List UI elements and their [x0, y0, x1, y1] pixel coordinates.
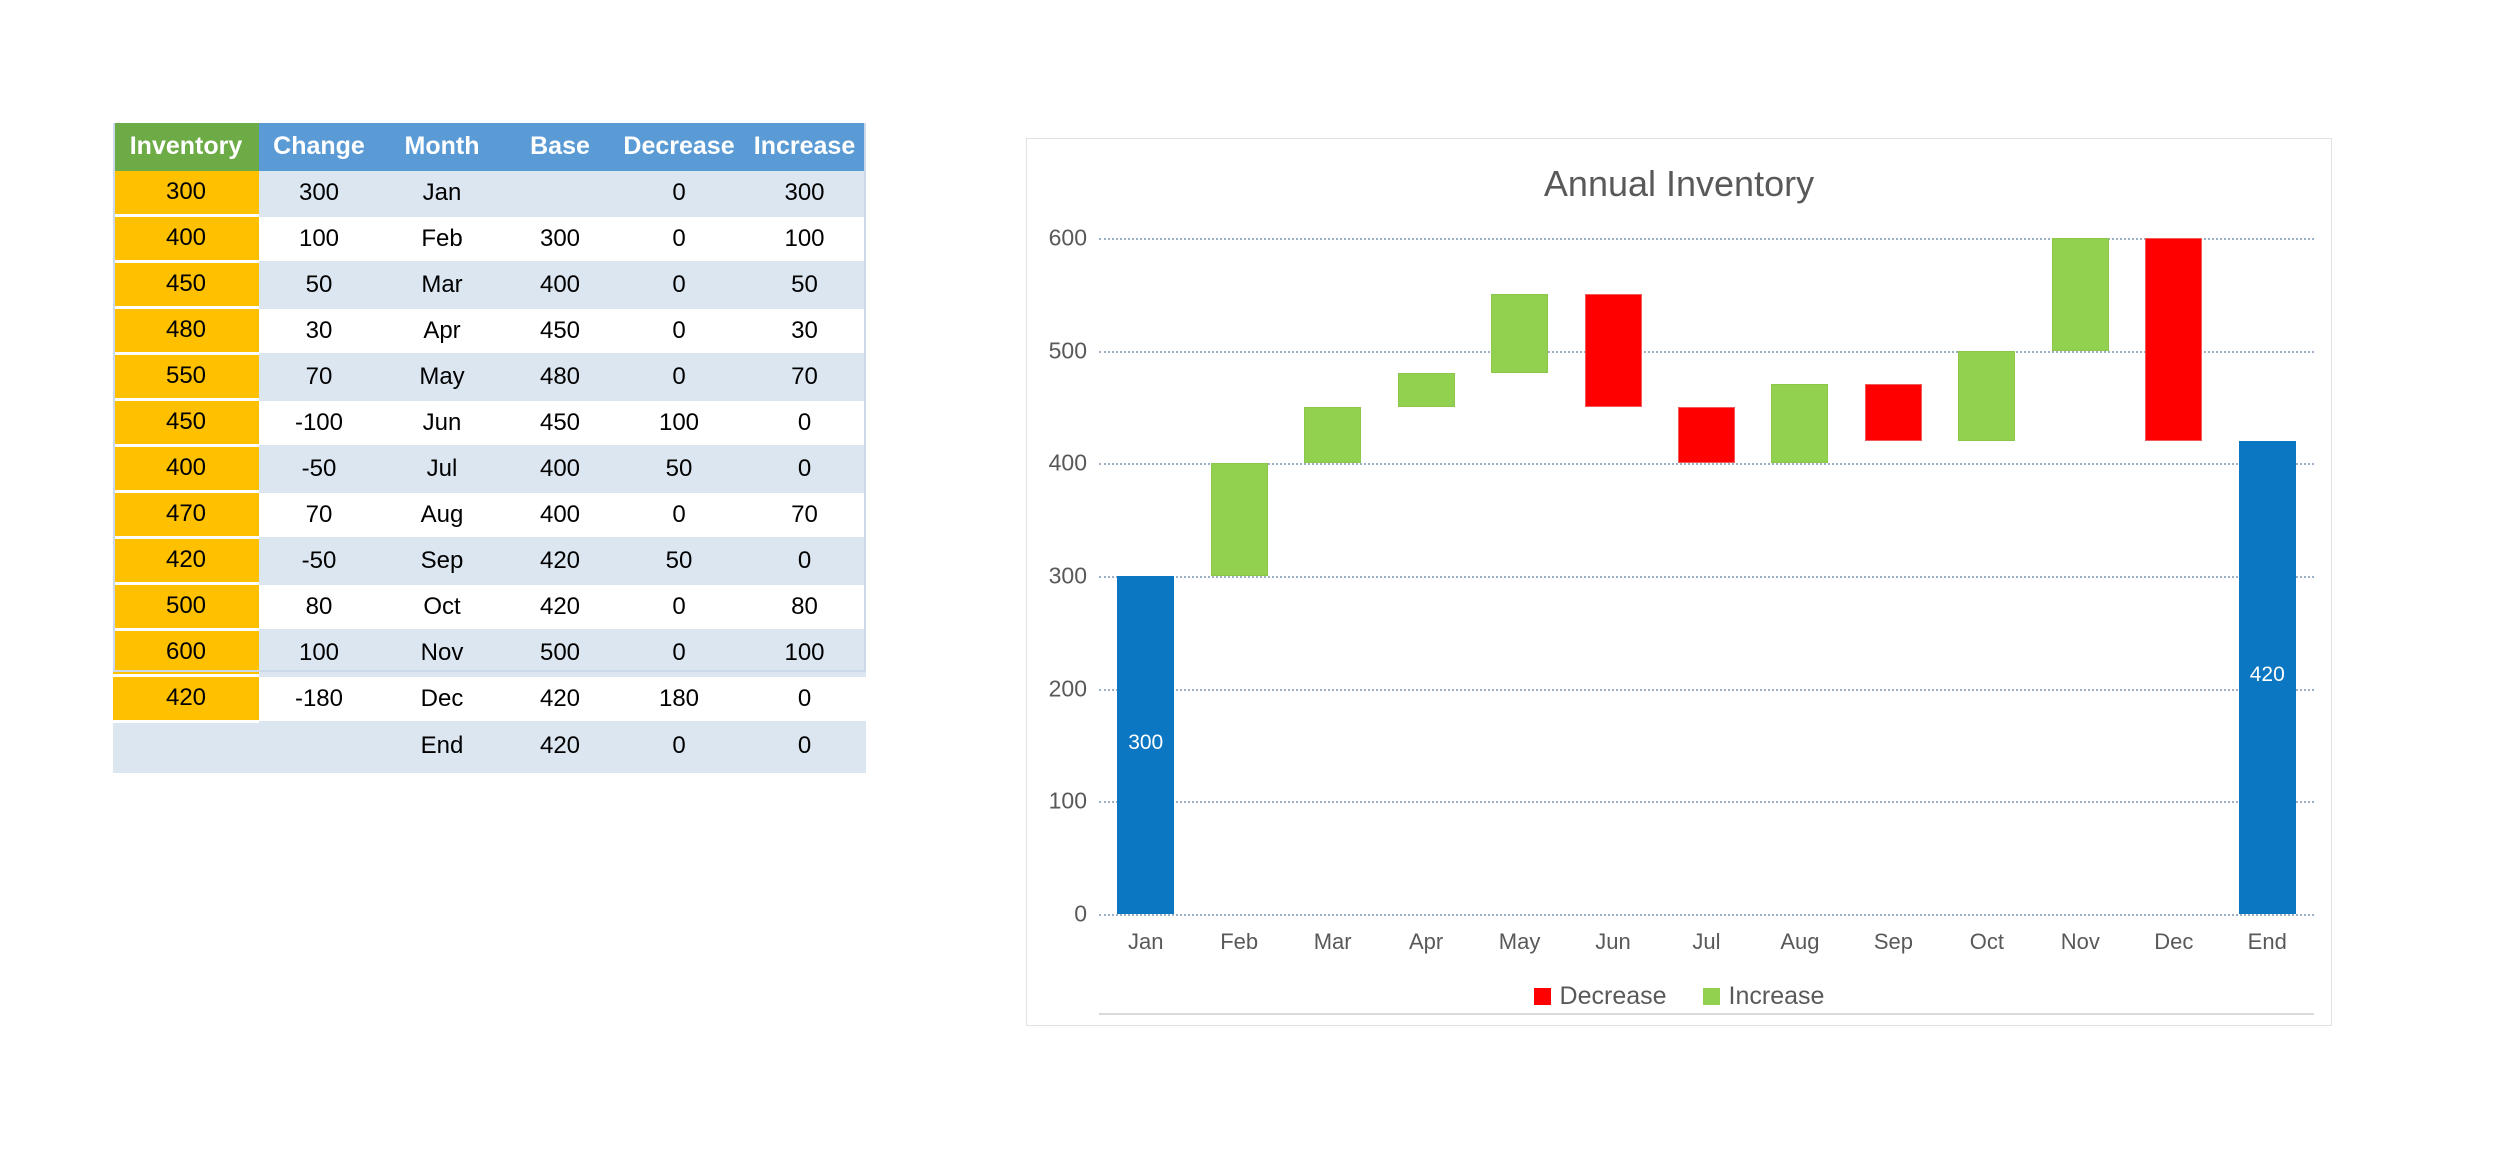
table-header-row: Inventory Change Month Base Decrease Inc… — [113, 123, 866, 171]
cell-inventory[interactable]: 450 — [113, 401, 259, 447]
inventory-data-table[interactable]: Inventory Change Month Base Decrease Inc… — [113, 123, 866, 773]
bar-jan[interactable]: 300 — [1117, 576, 1174, 914]
column-header-inventory[interactable]: Inventory — [113, 123, 259, 171]
cell-decrease[interactable]: 0 — [615, 723, 743, 773]
table-row[interactable]: End42000 — [113, 723, 866, 773]
cell-increase[interactable]: 300 — [743, 171, 866, 217]
cell-month[interactable]: Aug — [379, 493, 505, 539]
bar-jun[interactable] — [1585, 294, 1642, 407]
table-row[interactable]: 420-50Sep420500 — [113, 539, 866, 585]
y-axis: 0100200300400500600 — [1027, 238, 1087, 914]
column-header-base[interactable]: Base — [505, 123, 615, 171]
cell-month[interactable]: Dec — [379, 677, 505, 723]
legend-label: Increase — [1729, 982, 1825, 1010]
cell-change[interactable]: 30 — [259, 309, 379, 355]
x-axis-tick-label: Apr — [1379, 929, 1472, 955]
bar-end[interactable]: 420 — [2239, 441, 2296, 914]
cell-inventory[interactable]: 600 — [113, 631, 259, 677]
cell-month[interactable]: Feb — [379, 217, 505, 263]
cell-decrease[interactable]: 100 — [615, 401, 743, 447]
cell-decrease[interactable]: 180 — [615, 677, 743, 723]
cell-decrease[interactable]: 0 — [615, 309, 743, 355]
cell-decrease[interactable]: 50 — [615, 447, 743, 493]
x-axis-tick-label: Aug — [1753, 929, 1846, 955]
cell-inventory[interactable]: 500 — [113, 585, 259, 631]
legend-swatch-icon — [1534, 988, 1551, 1005]
table-row[interactable]: 50080Oct420080 — [113, 585, 866, 631]
cell-base[interactable]: 450 — [505, 309, 615, 355]
x-axis-tick-label: Dec — [2127, 929, 2220, 955]
table-row[interactable]: 48030Apr450030 — [113, 309, 866, 355]
cell-base[interactable]: 400 — [505, 493, 615, 539]
table-row[interactable]: 47070Aug400070 — [113, 493, 866, 539]
cell-decrease[interactable]: 0 — [615, 217, 743, 263]
cell-base[interactable]: 400 — [505, 447, 615, 493]
gridline — [1099, 463, 2314, 465]
gridline — [1099, 351, 2314, 353]
table-row[interactable]: 450-100Jun4501000 — [113, 401, 866, 447]
x-axis-tick-label: Jul — [1660, 929, 1753, 955]
bar-feb[interactable] — [1211, 463, 1268, 576]
x-axis-tick-label: May — [1473, 929, 1566, 955]
cell-change[interactable]: -50 — [259, 447, 379, 493]
x-axis-tick-label: Sep — [1847, 929, 1940, 955]
chart-panel[interactable]: Annual Inventory 0100200300400500600 300… — [1026, 138, 2332, 1026]
cell-inventory[interactable]: 480 — [113, 309, 259, 355]
y-axis-tick-label: 200 — [1049, 675, 1087, 702]
y-axis-tick-label: 500 — [1049, 337, 1087, 364]
cell-increase[interactable]: 0 — [743, 677, 866, 723]
legend-item-increase[interactable]: Increase — [1703, 982, 1825, 1011]
cell-inventory[interactable]: 550 — [113, 355, 259, 401]
cell-inventory[interactable]: 420 — [113, 677, 259, 723]
cell-change[interactable]: -100 — [259, 401, 379, 447]
cell-change[interactable]: -180 — [259, 677, 379, 723]
cell-base[interactable]: 420 — [505, 539, 615, 585]
table-row[interactable]: 400-50Jul400500 — [113, 447, 866, 493]
bar-sep[interactable] — [1865, 384, 1922, 440]
table-row[interactable]: 300300Jan0300 — [113, 171, 866, 217]
column-header-increase[interactable]: Increase — [743, 123, 866, 171]
cell-base[interactable] — [505, 171, 615, 217]
y-axis-tick-label: 300 — [1049, 563, 1087, 590]
cell-increase[interactable]: 0 — [743, 447, 866, 493]
cell-decrease[interactable]: 0 — [615, 263, 743, 309]
cell-month[interactable]: Apr — [379, 309, 505, 355]
cell-change[interactable] — [259, 723, 379, 773]
cell-month[interactable]: Jul — [379, 447, 505, 493]
cell-decrease[interactable]: 0 — [615, 171, 743, 217]
gridline — [1099, 576, 2314, 578]
x-axis-tick-label: Mar — [1286, 929, 1379, 955]
cell-inventory[interactable]: 450 — [113, 263, 259, 309]
x-axis-tick-label: Nov — [2034, 929, 2127, 955]
cell-decrease[interactable]: 0 — [615, 585, 743, 631]
cell-inventory[interactable]: 400 — [113, 217, 259, 263]
cell-decrease[interactable]: 50 — [615, 539, 743, 585]
gridline — [1099, 914, 2314, 916]
y-axis-tick-label: 100 — [1049, 788, 1087, 815]
column-header-month[interactable]: Month — [379, 123, 505, 171]
cell-base[interactable]: 420 — [505, 723, 615, 773]
cell-base[interactable]: 420 — [505, 677, 615, 723]
cell-increase[interactable]: 70 — [743, 355, 866, 401]
cell-base[interactable]: 450 — [505, 401, 615, 447]
cell-month[interactable]: Jan — [379, 171, 505, 217]
cell-decrease[interactable]: 0 — [615, 355, 743, 401]
table-row[interactable]: 400100Feb3000100 — [113, 217, 866, 263]
chart-title: Annual Inventory — [1027, 163, 2331, 205]
cell-inventory[interactable] — [113, 723, 259, 773]
cell-inventory[interactable]: 300 — [113, 171, 259, 217]
bar-aug[interactable] — [1771, 384, 1828, 463]
cell-month[interactable]: Jun — [379, 401, 505, 447]
x-axis-tick-label: Jan — [1099, 929, 1192, 955]
cell-increase[interactable]: 0 — [743, 539, 866, 585]
chart-legend[interactable]: DecreaseIncrease — [1027, 982, 2331, 1011]
cell-month[interactable]: Sep — [379, 539, 505, 585]
cell-inventory[interactable]: 420 — [113, 539, 259, 585]
x-axis-tick-label: Jun — [1566, 929, 1659, 955]
cell-inventory[interactable]: 400 — [113, 447, 259, 493]
x-axis-line — [1099, 1013, 2314, 1015]
cell-decrease[interactable]: 0 — [615, 493, 743, 539]
cell-month[interactable]: Nov — [379, 631, 505, 677]
cell-increase[interactable]: 0 — [743, 723, 866, 773]
legend-label: Decrease — [1560, 982, 1667, 1010]
cell-month[interactable]: End — [379, 723, 505, 773]
bar-jul[interactable] — [1678, 407, 1735, 463]
column-header-change[interactable]: Change — [259, 123, 379, 171]
cell-increase[interactable]: 50 — [743, 263, 866, 309]
cell-base[interactable]: 420 — [505, 585, 615, 631]
cell-increase[interactable]: 100 — [743, 217, 866, 263]
legend-item-decrease[interactable]: Decrease — [1534, 982, 1667, 1011]
table-row[interactable]: 420-180Dec4201800 — [113, 677, 866, 723]
gridline — [1099, 689, 2314, 691]
legend-swatch-icon — [1703, 988, 1720, 1005]
cell-change[interactable]: -50 — [259, 539, 379, 585]
x-axis-tick-label: Oct — [1940, 929, 2033, 955]
cell-increase[interactable]: 80 — [743, 585, 866, 631]
inventory-table: Inventory Change Month Base Decrease Inc… — [113, 123, 866, 773]
bar-oct[interactable] — [1958, 351, 2015, 441]
cell-inventory[interactable]: 470 — [113, 493, 259, 539]
cell-base[interactable]: 480 — [505, 355, 615, 401]
cell-base[interactable]: 400 — [505, 263, 615, 309]
y-axis-tick-label: 600 — [1049, 225, 1087, 252]
cell-month[interactable]: Mar — [379, 263, 505, 309]
cell-change[interactable]: 70 — [259, 355, 379, 401]
bar-apr[interactable] — [1398, 373, 1455, 407]
cell-increase[interactable]: 70 — [743, 493, 866, 539]
cell-month[interactable]: Oct — [379, 585, 505, 631]
table-row[interactable]: 55070May480070 — [113, 355, 866, 401]
cell-increase[interactable]: 0 — [743, 401, 866, 447]
cell-increase[interactable]: 30 — [743, 309, 866, 355]
cell-month[interactable]: May — [379, 355, 505, 401]
y-axis-tick-label: 400 — [1049, 450, 1087, 477]
cell-base[interactable]: 300 — [505, 217, 615, 263]
bar-data-label: 420 — [2239, 663, 2296, 687]
x-axis-tick-label: Feb — [1192, 929, 1285, 955]
bar-nov[interactable] — [2052, 238, 2109, 351]
table-body: 300300Jan0300400100Feb300010045050Mar400… — [113, 171, 866, 773]
cell-change[interactable]: 100 — [259, 217, 379, 263]
cell-change[interactable]: 300 — [259, 171, 379, 217]
cell-base[interactable]: 500 — [505, 631, 615, 677]
gridline — [1099, 238, 2314, 240]
column-header-decrease[interactable]: Decrease — [615, 123, 743, 171]
gridline — [1099, 801, 2314, 803]
cell-change[interactable]: 50 — [259, 263, 379, 309]
table-row[interactable]: 600100Nov5000100 — [113, 631, 866, 677]
y-axis-tick-label: 0 — [1074, 901, 1087, 928]
x-axis-tick-label: End — [2221, 929, 2314, 955]
cell-change[interactable]: 80 — [259, 585, 379, 631]
cell-decrease[interactable]: 0 — [615, 631, 743, 677]
cell-change[interactable]: 100 — [259, 631, 379, 677]
cell-increase[interactable]: 100 — [743, 631, 866, 677]
cell-change[interactable]: 70 — [259, 493, 379, 539]
bar-mar[interactable] — [1304, 407, 1361, 463]
bar-data-label: 300 — [1117, 731, 1174, 755]
table-row[interactable]: 45050Mar400050 — [113, 263, 866, 309]
bar-dec[interactable] — [2145, 238, 2202, 441]
plot-area[interactable]: 300420 — [1099, 238, 2314, 914]
bar-may[interactable] — [1491, 294, 1548, 373]
